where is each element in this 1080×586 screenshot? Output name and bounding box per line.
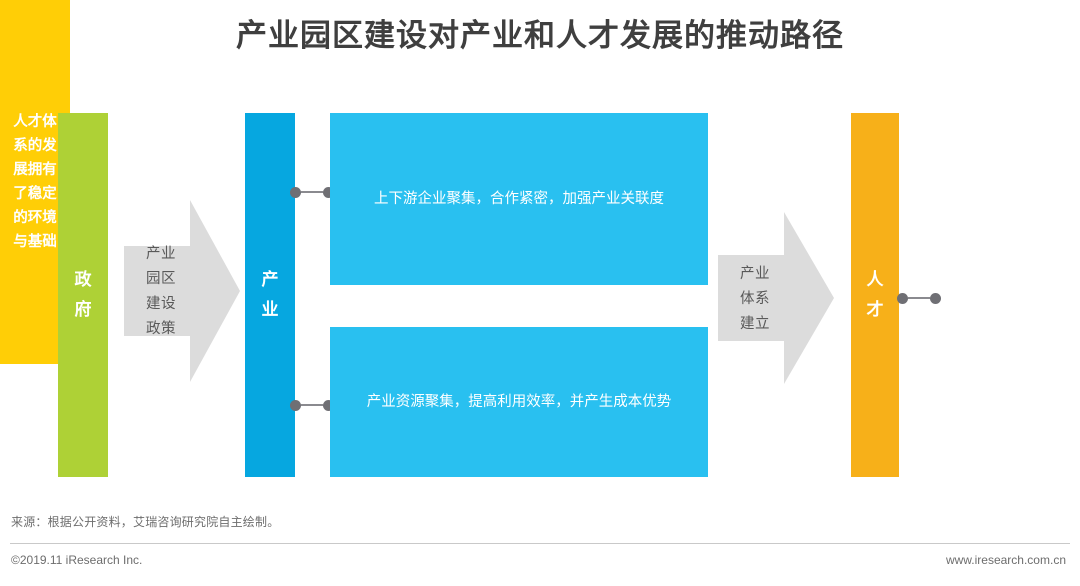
arrow-right-icon <box>124 200 240 382</box>
bar-industry: 产业 <box>245 113 295 477</box>
connector-industry-bottom <box>290 399 334 411</box>
bar-government-label: 政府 <box>72 265 94 325</box>
copyright-text: ©2019.11 iResearch Inc. <box>11 553 142 567</box>
arrow-right-icon <box>718 212 834 384</box>
box-talent-effect-text: 人才体系的发展拥有了稳定的环境与基础 <box>9 110 61 254</box>
box-industry-effect-top: 上下游企业聚集，合作紧密，加强产业关联度 <box>330 113 708 285</box>
bar-government: 政府 <box>58 113 108 477</box>
arrow-policy: 产业园区建设政策 <box>124 200 240 382</box>
arrow-system-label: 产业体系建立 <box>740 262 776 337</box>
diagram-canvas: 政府 产业园区建设政策 产业 上下游企业聚集，合作紧密，加强产业关联度 产业资源… <box>0 0 1080 586</box>
connector-industry-top <box>290 186 334 198</box>
arrow-system: 产业体系建立 <box>718 212 834 384</box>
connector-talent-effect <box>897 292 941 304</box>
box-industry-effect-bottom: 产业资源聚集，提高利用效率，并产生成本优势 <box>330 327 708 477</box>
bar-talent: 人才 <box>851 113 899 477</box>
connector-line <box>301 191 323 194</box>
connector-dot-left <box>897 293 908 304</box>
footer-divider <box>10 543 1070 544</box>
website-link[interactable]: www.iresearch.com.cn <box>946 553 1066 567</box>
arrow-policy-label: 产业园区建设政策 <box>146 242 182 342</box>
connector-dot-left <box>290 400 301 411</box>
connector-dot-right <box>930 293 941 304</box>
box-industry-effect-bottom-text: 产业资源聚集，提高利用效率，并产生成本优势 <box>349 389 689 415</box>
box-industry-effect-top-text: 上下游企业聚集，合作紧密，加强产业关联度 <box>349 186 689 212</box>
bar-talent-label: 人才 <box>864 265 886 325</box>
source-note: 来源：根据公开资料，艾瑞咨询研究院自主绘制。 <box>11 513 279 530</box>
bar-industry-label: 产业 <box>259 265 281 325</box>
connector-dot-left <box>290 187 301 198</box>
connector-line <box>908 297 930 300</box>
connector-line <box>301 404 323 407</box>
